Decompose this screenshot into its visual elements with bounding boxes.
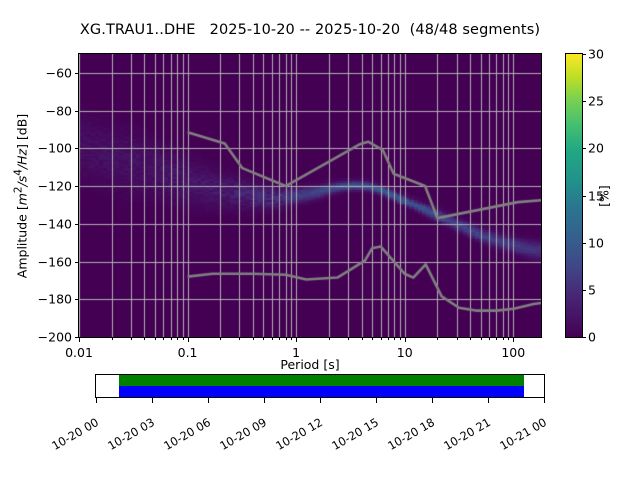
y-tick-label: −180: [38, 292, 72, 307]
x-tick-mark: [171, 337, 172, 340]
x-tick-mark: [508, 337, 509, 340]
x-tick-mark: [405, 337, 406, 342]
colorbar-tick-label: 0: [588, 330, 596, 345]
x-tick-mark: [286, 337, 287, 340]
colorbar: 051015202530 [%]: [565, 53, 583, 338]
x-tick-mark: [388, 337, 389, 340]
y-tick-label: −60: [46, 65, 72, 80]
colorbar-tick-label: 5: [588, 282, 596, 297]
segment-band: [119, 386, 524, 397]
time-tick-mark: [376, 398, 377, 403]
colorbar-tick-mark: [582, 101, 586, 102]
x-tick-mark: [131, 337, 132, 340]
time-tick-mark: [152, 398, 153, 403]
y-axis-label: Amplitude [m2/s4/Hz] [dB]: [12, 113, 29, 277]
x-tick-mark: [372, 337, 373, 340]
time-coverage-bar: [95, 374, 545, 398]
x-tick-mark: [155, 337, 156, 340]
x-tick-mark: [513, 337, 514, 342]
y-tick-label: −140: [38, 216, 72, 231]
ppsd-plot-figure: XG.TRAU1..DHE 2025-10-20 -- 2025-10-20 (…: [0, 0, 640, 480]
time-tick-label: 10-20 15: [329, 415, 381, 453]
x-tick-mark: [253, 337, 254, 340]
y-tick-mark: [75, 186, 79, 187]
x-tick-mark: [437, 337, 438, 340]
x-tick-mark: [489, 337, 490, 340]
time-tick-label: 10-20 12: [273, 415, 325, 453]
x-tick-mark: [481, 337, 482, 340]
data-coverage-band: [119, 375, 524, 386]
time-tick-mark: [96, 398, 97, 403]
y-tick-label: −80: [46, 103, 72, 118]
x-tick-mark: [220, 337, 221, 340]
y-tick-label: −120: [38, 179, 72, 194]
y-tick-label: −100: [38, 141, 72, 156]
y-tick-mark: [75, 224, 79, 225]
y-tick-label: −160: [38, 254, 72, 269]
x-tick-mark: [291, 337, 292, 340]
colorbar-label: [%]: [597, 185, 612, 207]
time-tick-label: 10-21 00: [497, 415, 549, 453]
y-tick-label: −200: [38, 330, 72, 345]
page-title: XG.TRAU1..DHE 2025-10-20 -- 2025-10-20 (…: [0, 22, 620, 38]
colorbar-tick-mark: [582, 243, 586, 244]
x-tick-mark: [296, 337, 297, 342]
x-axis-label: Period [s]: [79, 357, 541, 372]
colorbar-tick-mark: [582, 337, 586, 338]
x-tick-mark: [362, 337, 363, 340]
time-tick-label: 10-20 18: [385, 415, 437, 453]
x-tick-mark: [239, 337, 240, 340]
x-tick-mark: [470, 337, 471, 340]
time-tick-label: 10-20 09: [217, 415, 269, 453]
time-tick-mark: [432, 398, 433, 403]
y-tick-mark: [75, 73, 79, 74]
x-tick-mark: [279, 337, 280, 340]
time-tick-mark: [264, 398, 265, 403]
x-tick-mark: [381, 337, 382, 340]
x-tick-mark: [112, 337, 113, 340]
time-tick-label: 10-20 21: [441, 415, 493, 453]
time-tick-mark: [320, 398, 321, 403]
x-tick-mark: [263, 337, 264, 340]
y-tick-mark: [75, 148, 79, 149]
time-tick-mark: [488, 398, 489, 403]
colorbar-tick-mark: [582, 290, 586, 291]
colorbar-tick-label: 20: [588, 141, 604, 156]
time-tick-label: 10-20 03: [105, 415, 157, 453]
x-tick-mark: [183, 337, 184, 340]
x-tick-mark: [503, 337, 504, 340]
x-tick-mark: [329, 337, 330, 340]
x-tick-mark: [188, 337, 189, 342]
x-tick-mark: [79, 337, 80, 342]
x-tick-mark: [496, 337, 497, 340]
ppsd-axes: −60−80−100−120−140−160−180−200 0.010.111…: [78, 53, 542, 338]
colorbar-tick-mark: [582, 148, 586, 149]
x-tick-mark: [144, 337, 145, 340]
x-tick-mark: [348, 337, 349, 340]
x-tick-mark: [163, 337, 164, 340]
x-tick-mark: [394, 337, 395, 340]
colorbar-tick-mark: [582, 54, 586, 55]
colorbar-tick-label: 10: [588, 235, 604, 250]
time-tick-label: 10-20 00: [49, 415, 101, 453]
x-tick-mark: [272, 337, 273, 340]
time-tick-mark: [208, 398, 209, 403]
y-tick-mark: [75, 111, 79, 112]
time-tick-mark: [544, 398, 545, 403]
ppsd-heatmap-canvas: [79, 54, 541, 337]
colorbar-tick-label: 30: [588, 47, 604, 62]
colorbar-tick-mark: [582, 196, 586, 197]
y-tick-mark: [75, 262, 79, 263]
x-tick-mark: [177, 337, 178, 340]
time-tick-label: 10-20 06: [161, 415, 213, 453]
x-tick-mark: [400, 337, 401, 340]
colorbar-tick-label: 25: [588, 94, 604, 109]
y-tick-mark: [75, 299, 79, 300]
x-tick-mark: [457, 337, 458, 340]
